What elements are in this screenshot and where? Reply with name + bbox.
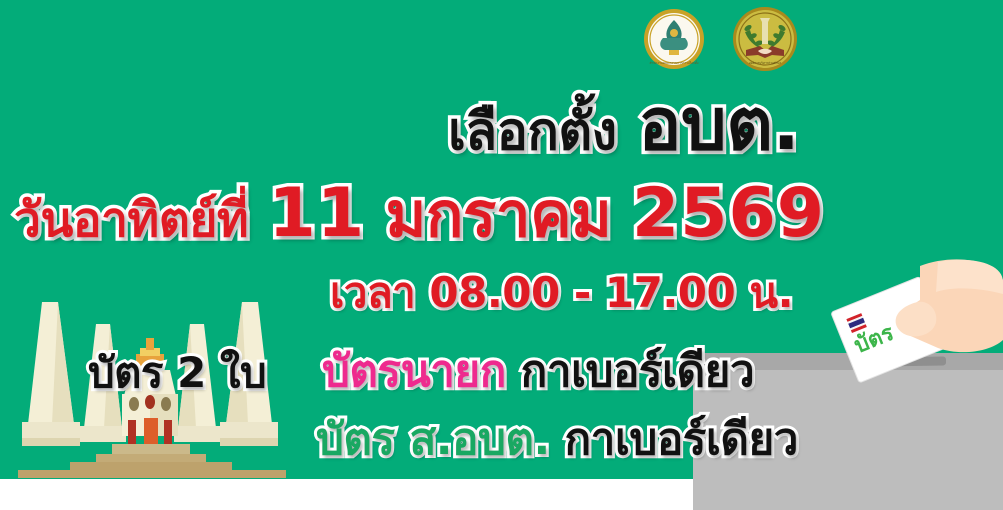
- time-line: เวลา 08.00 - 17.00 น.: [330, 272, 793, 314]
- local-administration-seal-icon: องค์การบริหารส่วนตำบล: [732, 6, 798, 72]
- ballot-row-council-type: บัตร ส.อบต.: [316, 414, 550, 465]
- svg-text:องค์การบริหารส่วนตำบล: องค์การบริหารส่วนตำบล: [749, 61, 781, 65]
- hand-inserting-ballot: บัตร: [800, 248, 1003, 388]
- election-commission-seal-icon: สำนักงานคณะกรรมการการเลือกตั้ง: [643, 8, 705, 70]
- date-year: 2569: [632, 174, 825, 253]
- ballot-row-mayor-type: บัตรนายก: [322, 346, 506, 397]
- date-month: มกราคม: [386, 178, 612, 251]
- ballot-row-mayor-instruction: กาเบอร์เดียว: [521, 346, 754, 397]
- ballot-row-council: บัตร ส.อบต. กาเบอร์เดียว: [316, 418, 798, 462]
- headline: เลือกตั้ง อบต.: [448, 88, 799, 160]
- election-poster: บัตร สำนักงานคณะกรรมการการเลือกตั้ง: [0, 0, 1003, 510]
- date-day-label: วันอาทิตย์ที่: [14, 192, 248, 248]
- ballot-row-council-instruction: กาเบอร์เดียว: [565, 414, 798, 465]
- date-day-number: 11: [269, 174, 366, 253]
- headline-prefix: เลือกตั้ง: [448, 102, 617, 162]
- headline-main: อบต.: [638, 82, 799, 166]
- ballot-count-label: บัตร 2 ใบ: [88, 352, 266, 394]
- svg-text:สำนักงานคณะกรรมการการเลือกตั้ง: สำนักงานคณะกรรมการการเลือกตั้ง: [649, 60, 698, 65]
- ballot-row-mayor: บัตรนายก กาเบอร์เดียว: [322, 350, 754, 394]
- date-line: วันอาทิตย์ที่ 11 มกราคม 2569: [14, 180, 825, 248]
